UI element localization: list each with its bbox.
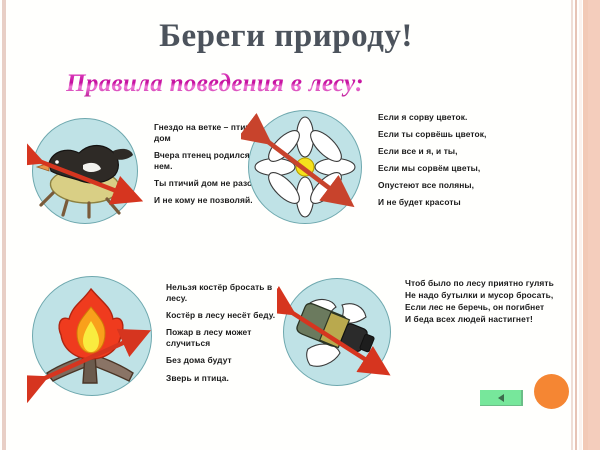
rule-line: Если мы сорвём цветы, <box>378 163 528 174</box>
right-border-stripes <box>568 0 600 450</box>
rule-line: Опустеют все поляны, <box>378 180 528 191</box>
rule-line: Без дома будут <box>166 355 291 366</box>
rule-line: Нельзя костёр бросать в лесу. <box>166 282 291 304</box>
slide-canvas: Береги природу! Правила поведения в лесу… <box>0 0 600 450</box>
triangle-left-icon <box>498 394 504 402</box>
border-stripe-6 <box>588 0 600 450</box>
daisy-flower-icon <box>248 110 362 224</box>
rule-line: Не надо бутылки и мусор бросать, <box>405 290 555 301</box>
rule-block-flower: Если я сорву цветок. Если ты сорвёшь цве… <box>248 110 528 224</box>
border-stripe-3 <box>579 0 582 450</box>
border-stripe-2 <box>575 0 577 450</box>
rule-text-campfire: Нельзя костёр бросать в лесу. Костёр в л… <box>166 282 291 384</box>
campfire-icon <box>32 276 152 396</box>
back-button[interactable] <box>480 390 523 406</box>
rule-block-campfire: Нельзя костёр бросать в лесу. Костёр в л… <box>32 276 291 396</box>
rule-line: Если я сорву цветок. <box>378 112 528 123</box>
rule-line: И беда всех людей настигнет! <box>405 314 555 325</box>
rule-line: Если лес не беречь, он погибнет <box>405 302 555 313</box>
rule-block-nest: Гнездо на ветке – птичий дом Вчера птене… <box>32 118 272 224</box>
rule-line: Если ты сорвёшь цветок, <box>378 129 528 140</box>
rule-text-litter: Чтоб было по лесу приятно гулять Не надо… <box>405 278 555 326</box>
left-border-stripe <box>2 0 6 450</box>
rule-line: Костёр в лесу несёт беду. <box>166 310 291 321</box>
bird-nest-icon <box>32 118 138 224</box>
rule-line: Пожар в лесу может случиться <box>166 327 291 349</box>
page-subtitle: Правила поведения в лесу: <box>0 70 600 98</box>
orange-marker-circle[interactable] <box>534 374 569 409</box>
rule-line: Зверь и птица. <box>166 373 291 384</box>
page-title: Береги природу! <box>0 18 600 55</box>
rule-line: Если все и я, и ты, <box>378 146 528 157</box>
bottle-litter-icon <box>283 278 391 386</box>
rule-line: Чтоб было по лесу приятно гулять <box>405 278 555 289</box>
border-stripe-1 <box>571 0 573 450</box>
rule-text-flower: Если я сорву цветок. Если ты сорвёшь цве… <box>378 112 528 209</box>
rule-line: И не будет красоты <box>378 197 528 208</box>
rule-block-litter: Чтоб было по лесу приятно гулять Не надо… <box>283 278 555 386</box>
